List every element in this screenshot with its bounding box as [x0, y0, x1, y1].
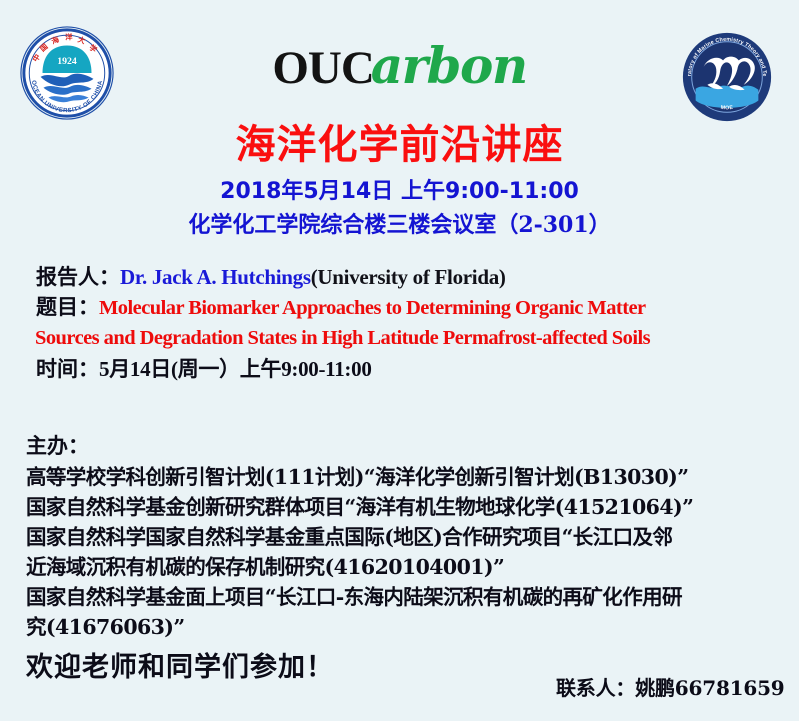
talk-title-line-1: Molecular Biomarker Approaches to Determ…: [99, 297, 646, 319]
poster-canvas: 1924 中 国 海 洋 大 学 OCEAN UNIVERSITY OF CHI…: [0, 0, 799, 721]
sponsor-line: 高等学校学科创新引智计划(111计划)“海洋化学创新引智计划(B13030)”: [26, 462, 778, 492]
speaker-affiliation: (University of Florida): [311, 265, 506, 289]
page-title: 海洋化学前沿讲座: [0, 112, 799, 170]
sponsor-line: 近海域沉积有机碳的保存机制研究(41620104001)”: [26, 552, 778, 582]
speaker-name: Dr. Jack A. Hutchings: [120, 265, 311, 289]
brand-suffix: arbon: [371, 36, 527, 95]
brand-wordmark: OUCarbon: [0, 36, 799, 95]
talk-title-row: 题目：Molecular Biomarker Approaches to Det…: [36, 292, 776, 323]
speaker-label: 报告人：: [36, 264, 120, 289]
welcome-message: 欢迎老师和同学们参加！: [26, 645, 334, 684]
talk-time-value: 5月14日(周一）上午9:00-11:00: [99, 357, 372, 381]
talk-title-row-2: Sources and Degradation States in High L…: [35, 323, 776, 353]
sponsor-line: 国家自然科学国家自然科学基金重点国际(地区)合作研究项目“长江口及邻: [26, 522, 778, 552]
sponsor-line: 究(41676063)”: [26, 612, 778, 642]
contact-info: 联系人：姚鹏66781659: [556, 672, 785, 701]
speaker-row: 报告人：Dr. Jack A. Hutchings(University of …: [36, 262, 776, 292]
talk-details: 报告人：Dr. Jack A. Hutchings(University of …: [36, 262, 776, 385]
event-datetime: 2018年5月14日 上午9:00-11:00: [0, 173, 799, 205]
sponsor-line: 国家自然科学基金面上项目“长江口-东海内陆架沉积有机碳的再矿化作用研: [26, 582, 778, 612]
sponsor-line: 国家自然科学基金创新研究群体项目“海洋有机生物地球化学(41521064)”: [26, 492, 778, 522]
event-venue: 化学化工学院综合楼三楼会议室（2-301）: [0, 207, 799, 239]
talk-title-line-2: Sources and Degradation States in High L…: [35, 327, 650, 349]
talk-title-label: 题目：: [36, 294, 99, 319]
sponsors-heading: 主办：: [26, 430, 778, 462]
talk-time-row: 时间：5月14日(周一）上午9:00-11:00: [36, 353, 776, 385]
sponsors-block: 主办： 高等学校学科创新引智计划(111计划)“海洋化学创新引智计划(B1303…: [26, 430, 778, 642]
talk-time-label: 时间：: [36, 356, 99, 381]
brand-prefix: OUC: [272, 42, 373, 94]
svg-text:MOE: MOE: [720, 105, 734, 112]
